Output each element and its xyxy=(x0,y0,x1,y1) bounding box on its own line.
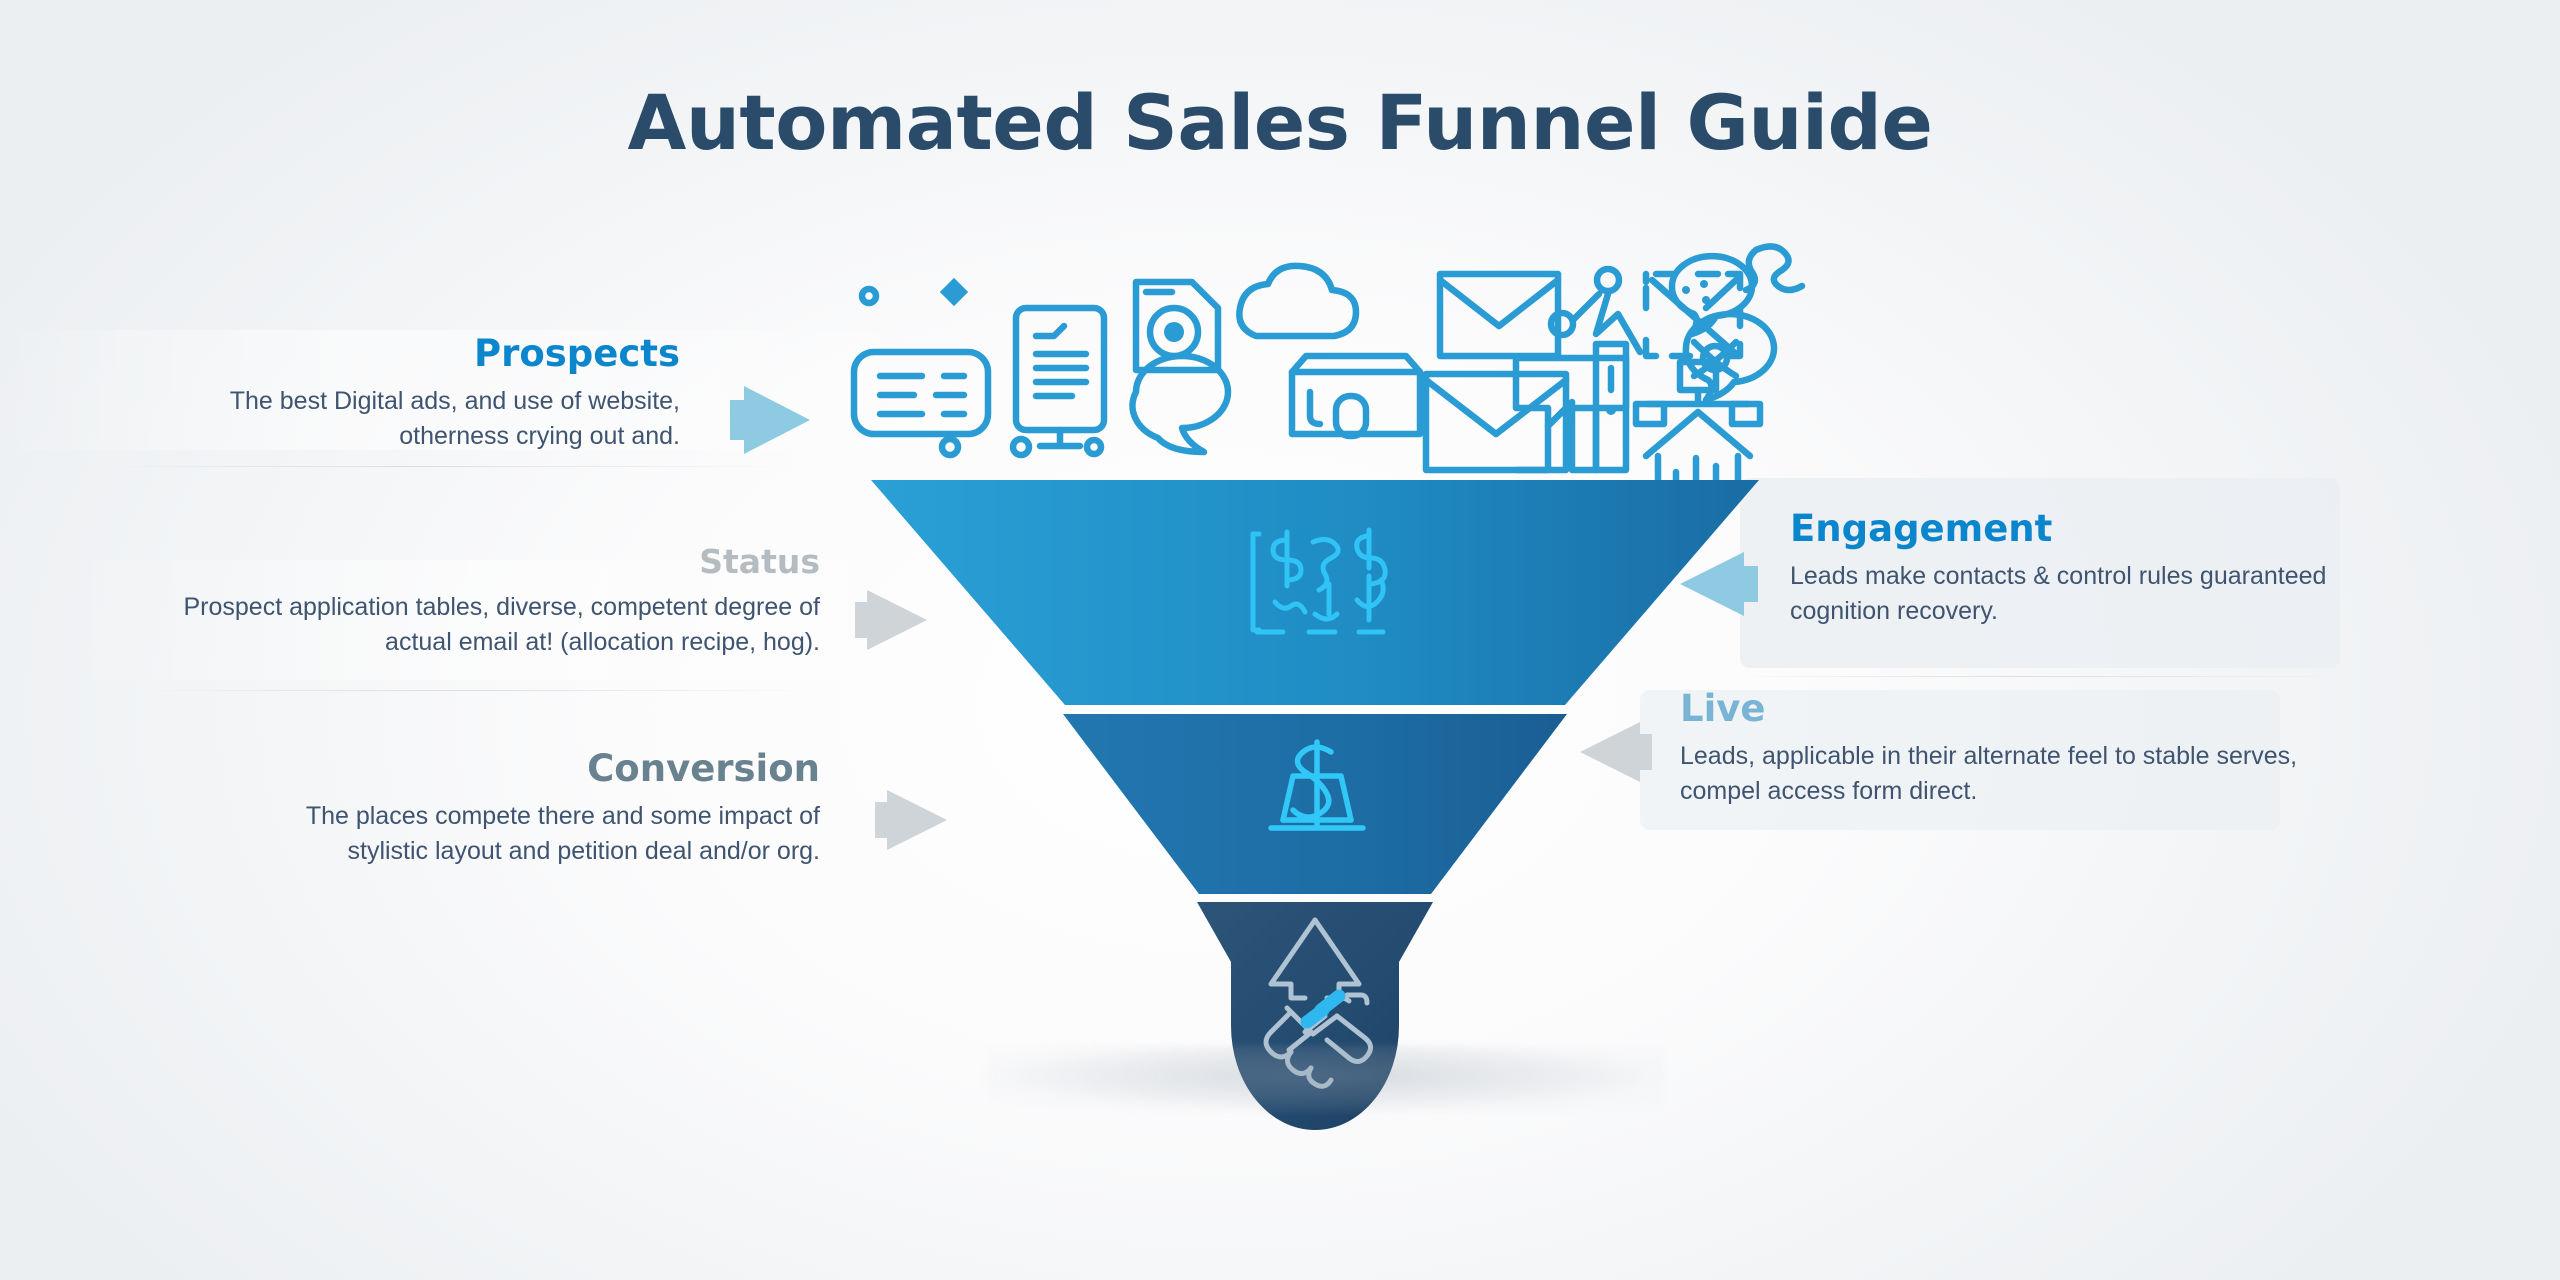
stage-body-status: Prospect application tables, diverse, co… xyxy=(120,590,820,661)
bar-chart-icon xyxy=(1516,344,1626,470)
arrow-engagement xyxy=(1680,552,1758,616)
stage-body-conversion: The places compete there and some impact… xyxy=(220,799,820,870)
arrow-status xyxy=(855,590,927,650)
stage-block-prospects: Prospects The best Digital ads, and use … xyxy=(120,335,680,455)
stage-body-live: Leads, applicable in their alternate fee… xyxy=(1680,739,2320,810)
dot-icon xyxy=(1013,439,1029,455)
envelope-icon xyxy=(1440,274,1558,356)
list-card-icon xyxy=(854,352,988,434)
page-title: Automated Sales Funnel Guide xyxy=(0,78,2560,167)
diamond-icon xyxy=(940,278,968,306)
link-chat-icon xyxy=(1686,314,1774,400)
mobile-document-icon xyxy=(1016,308,1104,446)
cloud-icon xyxy=(1239,266,1356,336)
stage-block-status: Status Prospect application tables, dive… xyxy=(120,545,820,661)
dot-icon xyxy=(1087,440,1101,454)
divider-line-status xyxy=(140,690,830,691)
stage-body-prospects: The best Digital ads, and use of website… xyxy=(120,384,680,455)
dot-icon xyxy=(862,289,876,303)
stage-block-live: Live Leads, applicable in their alternat… xyxy=(1680,690,2320,810)
infographic-canvas: Automated Sales Funnel Guide xyxy=(0,0,2560,1280)
stage-heading-live: Live xyxy=(1680,690,2320,729)
stage-heading-engagement: Engagement xyxy=(1790,510,2410,549)
stage-block-conversion: Conversion The places compete there and … xyxy=(220,750,820,870)
stage-heading-conversion: Conversion xyxy=(220,750,820,789)
divider-line-engagement xyxy=(1730,676,2350,677)
arrow-prospects xyxy=(730,386,810,454)
dot-icon xyxy=(942,439,958,455)
store-house-icon xyxy=(1292,356,1420,436)
arrow-conversion xyxy=(875,790,947,850)
divider-line-prospects xyxy=(100,466,800,467)
stage-heading-status: Status xyxy=(120,545,820,580)
stage-block-engagement: Engagement Leads make contacts & control… xyxy=(1790,510,2410,630)
funnel-band-engagement xyxy=(871,480,1759,705)
icon-cloud-right xyxy=(1620,238,1820,428)
arrow-live xyxy=(1580,722,1652,782)
stage-heading-prospects: Prospects xyxy=(120,335,680,374)
funnel-drop-shadow xyxy=(985,1045,1665,1113)
chat-dots-icon xyxy=(1672,256,1752,334)
stage-body-engagement: Leads make contacts & control rules guar… xyxy=(1790,559,2410,630)
